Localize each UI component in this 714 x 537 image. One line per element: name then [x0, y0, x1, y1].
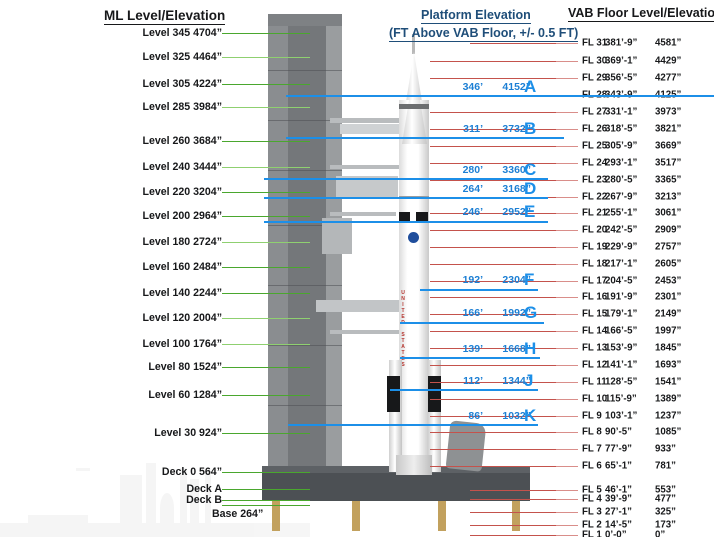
platform-id-letter: B [524, 119, 536, 139]
vab-floor-extension-line [430, 264, 556, 265]
vab-floor-label: FL 16191’-9”2301” [582, 292, 681, 303]
ml-column-heading: ML Level/Elevation [104, 8, 225, 25]
vab-floor-tick [556, 163, 578, 164]
ml-level-label: Level 240 3444” [142, 161, 222, 173]
platform-elevation-line [286, 95, 714, 97]
ml-level-line [222, 33, 310, 34]
vab-floor-tick [556, 449, 578, 450]
vab-floor-feet: 318’-5” [605, 124, 655, 135]
vab-floor-label: FL 21255’-1”3061” [582, 208, 681, 219]
vab-floor-name: FL 23 [582, 175, 605, 186]
vab-floor-label: FL 14166’-5”1997” [582, 326, 681, 337]
ml-level-label: Level 100 1764” [142, 338, 222, 350]
vab-floor-feet: 65’-1” [605, 461, 655, 472]
vab-floor-inches: 933” [655, 444, 676, 455]
vab-floor-inches: 3669” [655, 141, 681, 152]
ml-deck [262, 473, 530, 501]
platform-id-letter: E [524, 202, 535, 222]
ml-level-line [222, 472, 310, 473]
ml-level-line [222, 367, 310, 368]
ml-level-line [222, 395, 310, 396]
vab-floor-feet: 229’-9” [605, 242, 655, 253]
vab-floor-name: FL 15 [582, 309, 605, 320]
vab-floor-feet: 369’-1” [605, 56, 655, 67]
vab-floor-tick [556, 146, 578, 147]
platform-id-letter: C [524, 160, 536, 180]
vab-floor-extension-line [430, 247, 556, 248]
vab-floor-tick [556, 43, 578, 44]
vab-floor-inches: 4581” [655, 38, 681, 49]
vab-floor-label: FL 11128’-5”1541” [582, 377, 681, 388]
vab-floor-feet: 331’-1” [605, 107, 655, 118]
vab-floor-name: FL 7 [582, 444, 605, 455]
vab-floor-inches: 3821” [655, 124, 681, 135]
platform-elevation-line [420, 289, 538, 291]
platform-feet: 166’ [447, 307, 483, 319]
crew-access-arm [316, 300, 402, 312]
platform-id-letter: D [524, 179, 536, 199]
vab-floor-name: FL 8 [582, 427, 605, 438]
vab-floor-label: FL 13153’-9”1845” [582, 343, 681, 354]
vab-floor-feet: 103’-1” [605, 411, 655, 422]
platform-feet: 86’ [447, 410, 483, 422]
swing-arm [330, 212, 396, 216]
ml-level-line [222, 57, 310, 58]
vab-floor-label: FL 26318’-5”3821” [582, 124, 681, 135]
vab-floor-extension-line [430, 399, 556, 400]
vab-floor-extension-line [470, 490, 556, 491]
vab-floor-feet: 39’-9” [605, 494, 655, 505]
platform-feet: 346’ [447, 81, 483, 93]
platform-elevation-label: 166’1992” [447, 307, 531, 319]
vab-floor-label: FL 327’-1”325” [582, 507, 676, 518]
vab-floor-label: FL 777’-9”933” [582, 444, 676, 455]
vab-floor-tick [556, 499, 578, 500]
vab-floor-tick [556, 525, 578, 526]
vab-floor-feet: 217’-1” [605, 259, 655, 270]
vab-floor-extension-line [430, 466, 556, 467]
platform-elevation-label: 139’1668” [447, 343, 531, 355]
vab-floor-name: FL 18 [582, 259, 605, 270]
vab-floor-inches: 1085” [655, 427, 681, 438]
vab-floor-label: FL 665’-1”781” [582, 461, 676, 472]
vab-floor-feet: 293’-1” [605, 158, 655, 169]
vab-floor-name: FL 29 [582, 73, 605, 84]
watermark-cloud [76, 468, 90, 471]
ml-level-line [222, 216, 310, 217]
vab-floor-feet: 255’-1” [605, 208, 655, 219]
tower-brace [268, 405, 342, 406]
platform-elevation-line [400, 322, 544, 324]
ml-level-line [222, 192, 310, 193]
vab-floor-inches: 2149” [655, 309, 681, 320]
platform-column-subheading: (FT Above VAB Floor, +/- 0.5 FT) [389, 26, 578, 42]
watermark-building [146, 463, 156, 523]
vab-floor-label: FL 9103’-1”1237” [582, 411, 681, 422]
ml-level-line [222, 107, 310, 108]
vab-floor-name: FL 1 [582, 530, 605, 537]
diagram-canvas: UNITEDSTATES Level 345 4704”Level 325 44… [0, 0, 714, 537]
vab-floor-inches: 3517” [655, 158, 681, 169]
vab-floor-extension-line [470, 525, 556, 526]
vab-floor-tick [556, 230, 578, 231]
ml-level-label: Level 325 4464” [142, 51, 222, 63]
vab-floor-name: FL 6 [582, 461, 605, 472]
vab-floor-name: FL 17 [582, 276, 605, 287]
platform-elevation-label: 264’3168” [447, 183, 531, 195]
vab-floor-label: FL 31381’-9”4581” [582, 38, 681, 49]
ml-level-line [222, 84, 310, 85]
vab-floor-name: FL 11 [582, 377, 605, 388]
vab-floor-extension-line [470, 512, 556, 513]
platform-feet: 311’ [447, 123, 483, 135]
vab-floor-tick [556, 264, 578, 265]
vab-floor-tick [556, 416, 578, 417]
vab-floor-label: FL 10115’-9”1389” [582, 394, 681, 405]
vab-floor-tick [556, 432, 578, 433]
ml-base-label: Base 264” [212, 508, 263, 520]
swing-arm [330, 330, 400, 334]
platform-column-heading: Platform Elevation [421, 8, 531, 24]
ml-level-line [222, 433, 310, 434]
swing-arm-platform [340, 124, 402, 134]
vab-floor-feet: 153’-9” [605, 343, 655, 354]
vab-floor-name: FL 12 [582, 360, 605, 371]
tower-brace [268, 170, 342, 171]
vab-floor-inches: 1693” [655, 360, 681, 371]
ml-level-label: Level 345 4704” [142, 27, 222, 39]
vab-floor-extension-line [430, 180, 556, 181]
platform-elevation-line [288, 424, 538, 426]
tower-brace [268, 70, 342, 71]
watermark-base [28, 515, 88, 523]
ml-level-label: Level 80 1524” [148, 361, 222, 373]
vab-floor-label: FL 22267’-9”3213” [582, 192, 681, 203]
vab-floor-name: FL 3 [582, 507, 605, 518]
vab-floor-label: FL 20242’-5”2909” [582, 225, 681, 236]
vab-floor-inches: 2301” [655, 292, 681, 303]
vab-floor-feet: 77’-9” [605, 444, 655, 455]
watermark-building [120, 475, 142, 523]
platform-elevation-line [400, 357, 540, 359]
ml-level-label: Level 305 4224” [142, 78, 222, 90]
vab-floor-extension-line [430, 112, 556, 113]
platform-elevation-label: 246’2952” [447, 206, 531, 218]
vab-floor-feet: 179’-1” [605, 309, 655, 320]
ml-level-label: Deck 0 564” [162, 466, 222, 478]
vab-floor-label: FL 15179’-1”2149” [582, 309, 681, 320]
vab-floor-inches: 477” [655, 494, 676, 505]
platform-feet: 192’ [447, 274, 483, 286]
vab-floor-tick [556, 382, 578, 383]
vab-column-heading: VAB Floor Level/Elevation [568, 6, 714, 22]
vab-floor-feet: 115’-9” [605, 394, 655, 405]
platform-id-letter: J [524, 371, 533, 391]
ml-level-line [222, 489, 310, 490]
vab-floor-extension-line [430, 297, 556, 298]
vab-floor-tick [556, 348, 578, 349]
ml-level-line [222, 293, 310, 294]
vab-floor-tick [556, 490, 578, 491]
vab-floor-feet: 280’-5” [605, 175, 655, 186]
ml-level-label: Level 200 2964” [142, 210, 222, 222]
platform-feet: 246’ [447, 206, 483, 218]
vab-floor-inches: 2757” [655, 242, 681, 253]
platform-elevation-label: 280’3360” [447, 164, 531, 176]
ml-level-label: Level 260 3684” [142, 135, 222, 147]
vab-floor-name: FL 21 [582, 208, 605, 219]
vab-floor-tick [556, 129, 578, 130]
vab-floor-tick [556, 180, 578, 181]
ml-level-line [222, 242, 310, 243]
ml-level-label: Level 220 3204” [142, 186, 222, 198]
crawler-transporter [446, 420, 487, 472]
vab-floor-feet: 166’-5” [605, 326, 655, 337]
vab-floor-tick [556, 197, 578, 198]
vab-floor-label: FL 10’-0”0” [582, 530, 665, 537]
platform-elevation-line [264, 221, 548, 223]
vab-floor-feet: 141’-1” [605, 360, 655, 371]
ml-level-label: Level 285 3984” [142, 101, 222, 113]
vab-floor-name: FL 4 [582, 494, 605, 505]
vab-floor-tick [556, 535, 578, 536]
platform-feet: 280’ [447, 164, 483, 176]
platform-elevation-label: 346’4152” [447, 81, 531, 93]
ml-mount-leg [512, 501, 520, 531]
vab-floor-feet: 305’-9” [605, 141, 655, 152]
nasa-insignia-icon [408, 232, 419, 243]
vab-floor-tick [556, 281, 578, 282]
vab-floor-label: FL 29356’-5”4277” [582, 73, 681, 84]
vab-floor-inches: 3061” [655, 208, 681, 219]
vab-floor-name: FL 9 [582, 411, 605, 422]
ml-level-label: Level 180 2724” [142, 236, 222, 248]
platform-elevation-line [390, 389, 538, 391]
vab-floor-label: FL 439’-9”477” [582, 494, 676, 505]
vab-floor-name: FL 13 [582, 343, 605, 354]
ml-level-label: Level 30 924” [154, 427, 222, 439]
vab-floor-feet: 27’-1” [605, 507, 655, 518]
vab-floor-extension-line [430, 230, 556, 231]
vab-floor-label: FL 25305’-9”3669” [582, 141, 681, 152]
vab-floor-feet: 191’-9” [605, 292, 655, 303]
swing-arm [330, 118, 400, 123]
ml-level-line [222, 500, 310, 501]
platform-id-letter: G [524, 303, 537, 323]
vab-floor-inches: 2605” [655, 259, 681, 270]
ml-level-line [222, 344, 310, 345]
vab-floor-name: FL 19 [582, 242, 605, 253]
vab-floor-extension-line [470, 499, 556, 500]
ml-level-line [222, 141, 310, 142]
vab-floor-inches: 4277” [655, 73, 681, 84]
ml-level-label: Level 120 2004” [142, 312, 222, 324]
vab-floor-tick [556, 331, 578, 332]
platform-id-letter: F [524, 270, 534, 290]
platform-feet: 112’ [447, 375, 483, 387]
ml-level-label: Level 160 2484” [142, 261, 222, 273]
vab-floor-feet: 0’-0” [605, 530, 655, 537]
vab-floor-feet: 242’-5” [605, 225, 655, 236]
vab-floor-inches: 3365” [655, 175, 681, 186]
platform-feet: 139’ [447, 343, 483, 355]
vab-floor-inches: 2909” [655, 225, 681, 236]
vab-floor-extension-line [430, 61, 556, 62]
platform-elevation-label: 311’3732” [447, 123, 531, 135]
vab-floor-name: FL 10 [582, 394, 605, 405]
vab-floor-tick [556, 314, 578, 315]
vab-floor-inches: 1997” [655, 326, 681, 337]
tower-brace [268, 285, 342, 286]
platform-elevation-label: 112’1344” [447, 375, 531, 387]
rocket-core-stage [399, 100, 429, 472]
vab-floor-name: FL 26 [582, 124, 605, 135]
vab-floor-extension-line [430, 331, 556, 332]
platform-id-letter: K [524, 406, 536, 426]
vab-floor-tick [556, 297, 578, 298]
rocket-engine-skirt [396, 455, 432, 475]
ml-level-line [222, 267, 310, 268]
ml-level-line [222, 167, 310, 168]
vab-floor-inches: 4429” [655, 56, 681, 67]
platform-elevation-line [286, 137, 564, 139]
vab-floor-feet: 356’-5” [605, 73, 655, 84]
platform-feet: 264’ [447, 183, 483, 195]
platform-elevation-line [264, 197, 548, 199]
vab-floor-tick [556, 466, 578, 467]
platform-elevation-line [264, 178, 548, 180]
vab-floor-name: FL 16 [582, 292, 605, 303]
vab-floor-feet: 204’-5” [605, 276, 655, 287]
vab-floor-name: FL 25 [582, 141, 605, 152]
vab-floor-tick [556, 399, 578, 400]
vab-floor-extension-line [470, 43, 556, 44]
vab-floor-label: FL 18217’-1”2605” [582, 259, 681, 270]
vab-floor-tick [556, 213, 578, 214]
vab-floor-label: FL 12141’-1”1693” [582, 360, 681, 371]
platform-id-letter: A [524, 77, 536, 97]
vab-floor-extension-line [430, 146, 556, 147]
vab-floor-extension-line [430, 365, 556, 366]
vab-floor-label: FL 23280’-5”3365” [582, 175, 681, 186]
tower-brace [268, 345, 342, 346]
vab-floor-inches: 3213” [655, 192, 681, 203]
vab-floor-inches: 0” [655, 530, 665, 537]
vab-floor-inches: 781” [655, 461, 676, 472]
ml-level-label: Level 60 1284” [148, 389, 222, 401]
vab-floor-label: FL 890’-5”1085” [582, 427, 681, 438]
vab-floor-tick [556, 247, 578, 248]
vab-floor-label: FL 17204’-5”2453” [582, 276, 681, 287]
vab-floor-name: FL 20 [582, 225, 605, 236]
vab-floor-feet: 90’-5” [605, 427, 655, 438]
vab-floor-tick [556, 365, 578, 366]
vab-floor-name: FL 24 [582, 158, 605, 169]
vab-floor-feet: 267’-9” [605, 192, 655, 203]
vab-floor-inches: 1237” [655, 411, 681, 422]
vab-floor-name: FL 31 [582, 38, 605, 49]
vab-floor-tick [556, 112, 578, 113]
vab-floor-inches: 2453” [655, 276, 681, 287]
vab-floor-tick [556, 78, 578, 79]
booster-marking [387, 376, 400, 412]
umbilical-tower-arm [322, 218, 352, 254]
vab-floor-feet: 381’-9” [605, 38, 655, 49]
rocket-band [399, 104, 429, 109]
watermark-dome [160, 493, 174, 523]
vab-floor-tick [556, 61, 578, 62]
swing-arm [330, 165, 400, 169]
vab-floor-label: FL 27331’-1”3973” [582, 107, 681, 118]
vab-floor-label: FL 24293’-1”3517” [582, 158, 681, 169]
ml-level-label: Deck B [186, 494, 222, 506]
ml-mount-leg [352, 501, 360, 531]
watermark-ground [0, 523, 310, 537]
vab-floor-label: FL 30369’-1”4429” [582, 56, 681, 67]
vab-floor-inches: 1541” [655, 377, 681, 388]
vab-floor-tick [556, 512, 578, 513]
vab-floor-name: FL 14 [582, 326, 605, 337]
platform-elevation-label: 86’1032” [447, 410, 531, 422]
vab-floor-extension-line [430, 78, 556, 79]
vab-floor-inches: 325” [655, 507, 676, 518]
vab-floor-extension-line [430, 432, 556, 433]
vab-floor-name: FL 30 [582, 56, 605, 67]
vab-floor-label: FL 19229’-9”2757” [582, 242, 681, 253]
vab-floor-name: FL 22 [582, 192, 605, 203]
ml-level-label: Level 140 2244” [142, 287, 222, 299]
ml-level-line [222, 505, 310, 506]
ml-mount-leg [438, 501, 446, 531]
vab-floor-inches: 3973” [655, 107, 681, 118]
platform-elevation-label: 192’2304” [447, 274, 531, 286]
vab-floor-feet: 128’-5” [605, 377, 655, 388]
vab-floor-extension-line [470, 535, 556, 536]
platform-id-letter: H [524, 339, 536, 359]
vab-floor-inches: 1389” [655, 394, 681, 405]
ml-level-line [222, 318, 310, 319]
vab-floor-inches: 1845” [655, 343, 681, 354]
vab-floor-extension-line [430, 449, 556, 450]
vab-floor-name: FL 27 [582, 107, 605, 118]
